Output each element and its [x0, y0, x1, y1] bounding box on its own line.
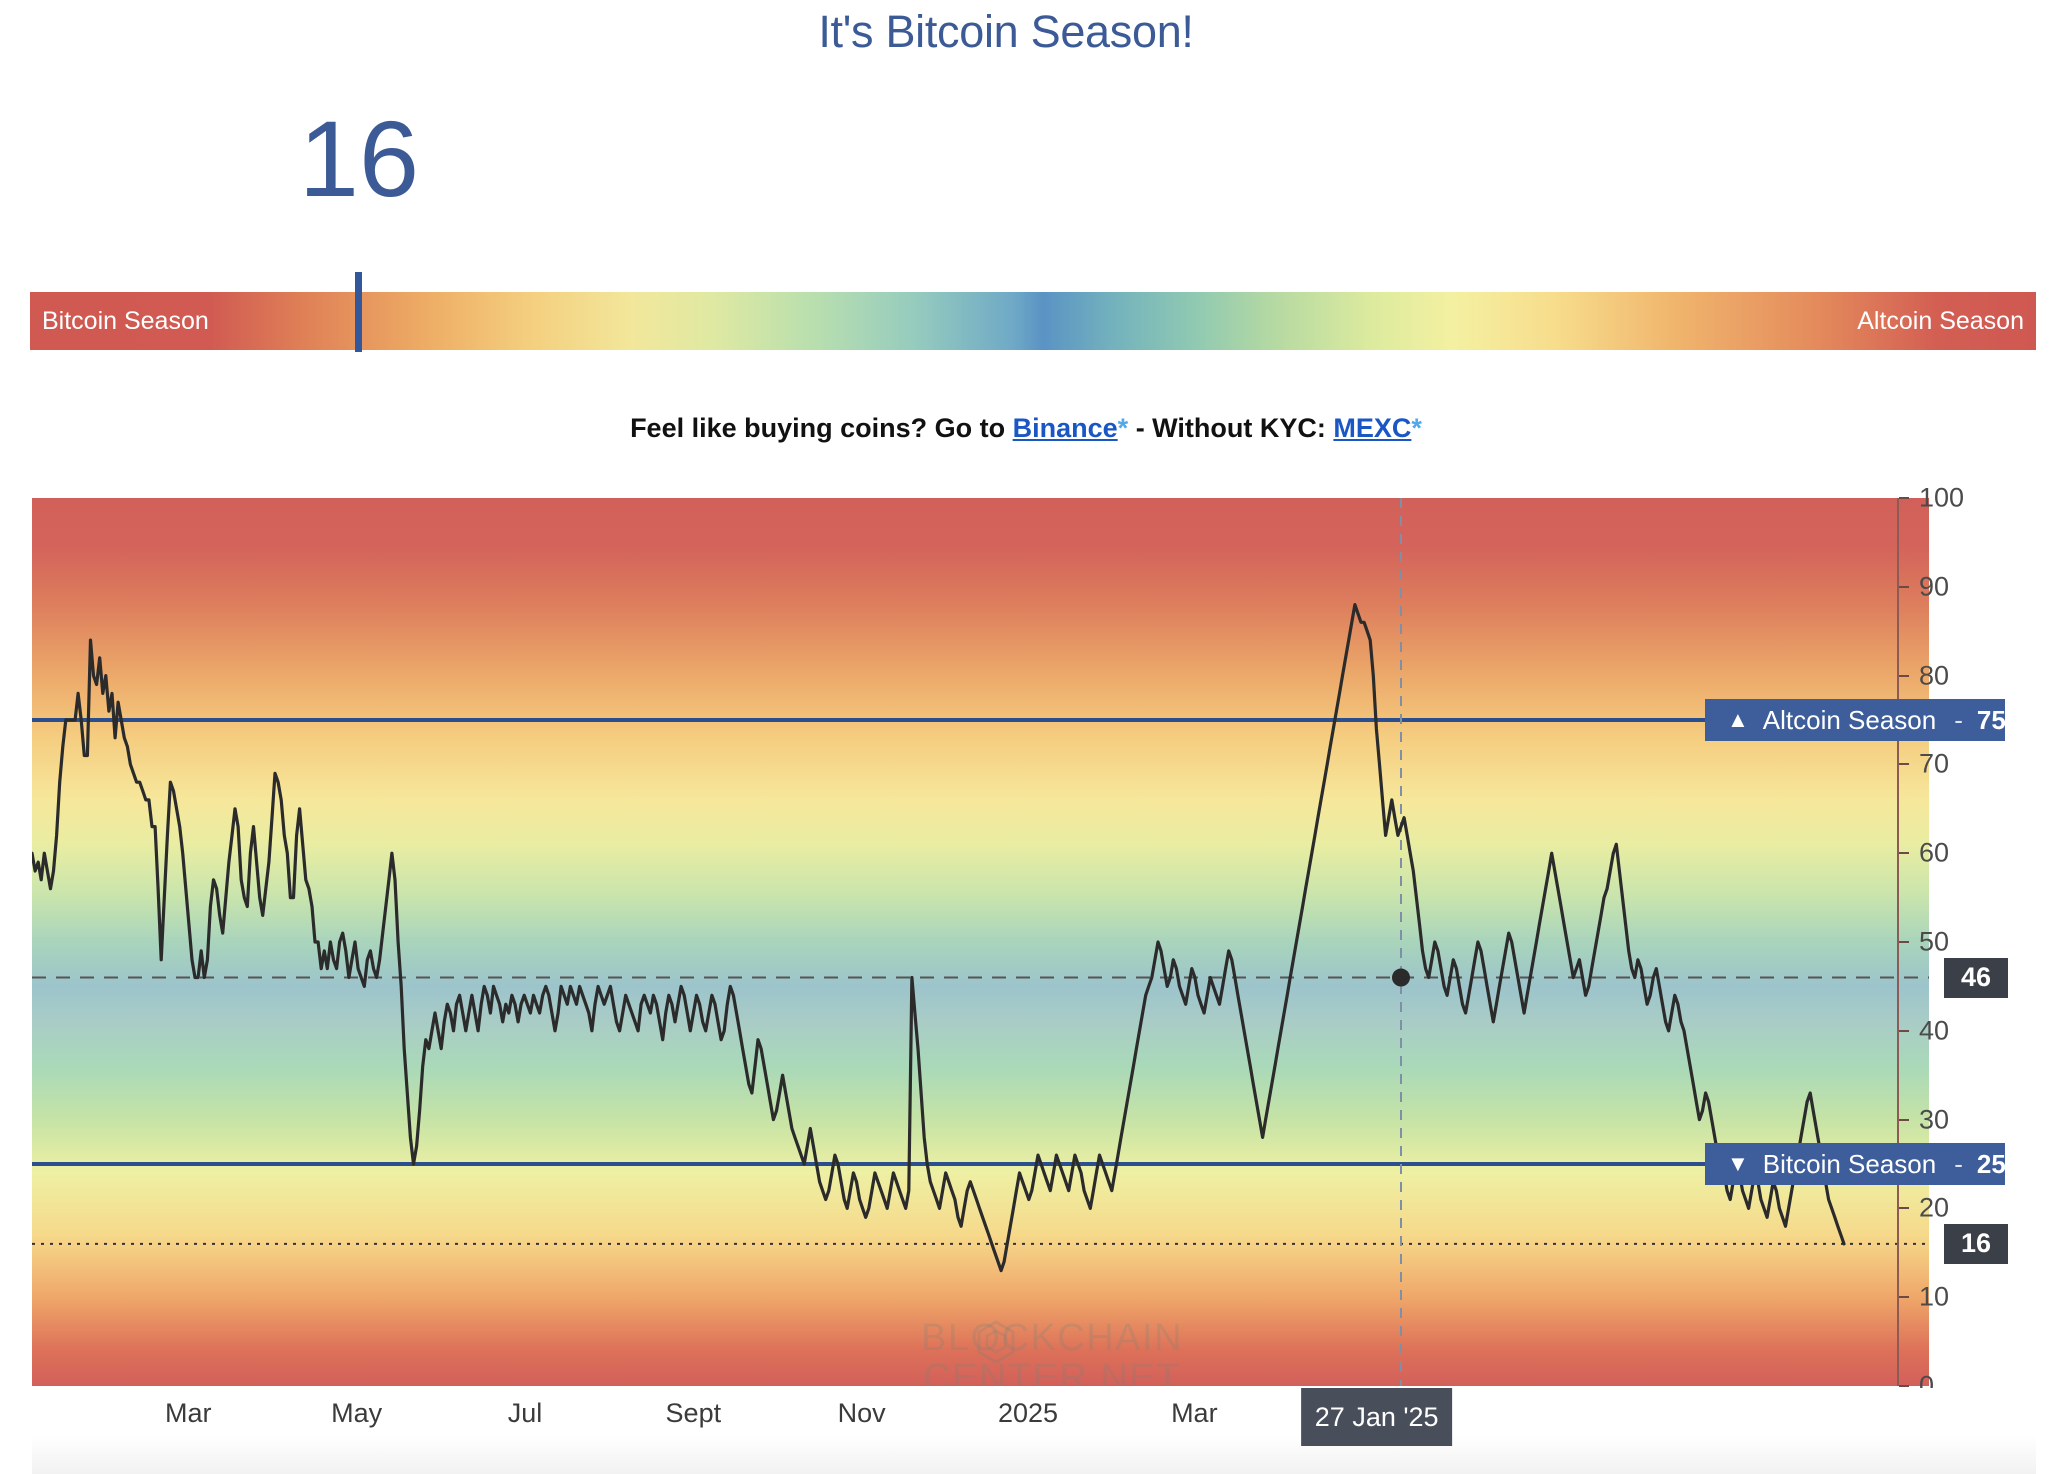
- y-tick-40: [1899, 1030, 1909, 1032]
- y-tick-0: [1899, 1385, 1909, 1387]
- blockchain-hex-icon: [976, 1320, 1016, 1364]
- y-axis-label-20: 20: [1919, 1195, 1949, 1222]
- page-title: It's Bitcoin Season!: [0, 4, 2052, 60]
- y-tick-60: [1899, 852, 1909, 854]
- x-axis-label-may: May: [331, 1398, 382, 1429]
- y-tick-90: [1899, 586, 1909, 588]
- page-title-text: It's Bitcoin Season!: [818, 4, 1193, 60]
- y-tick-30: [1899, 1119, 1909, 1121]
- y-tick-80: [1899, 675, 1909, 677]
- y-axis-label-30: 30: [1919, 1106, 1949, 1133]
- chart-plot-area[interactable]: BLOCKCHAIN CENTER.NET: [32, 498, 1929, 1386]
- season-bar-right-label: Altcoin Season: [1857, 292, 2024, 350]
- value-badge-hover: 46: [1944, 958, 2008, 998]
- y-axis-label-50: 50: [1919, 929, 1949, 956]
- binance-star: *: [1118, 413, 1129, 443]
- y-axis-label-90: 90: [1919, 573, 1949, 600]
- value-badge-current: 16: [1944, 1224, 2008, 1264]
- season-marker: [355, 272, 362, 352]
- promo-line: Feel like buying coins? Go to Binance* -…: [0, 410, 2052, 446]
- threshold-label: Bitcoin Season: [1763, 1149, 1936, 1180]
- x-axis-label-2025: 2025: [998, 1398, 1058, 1429]
- y-tick-20: [1899, 1207, 1909, 1209]
- x-axis-label-jul: Jul: [508, 1398, 543, 1429]
- mexc-link[interactable]: MEXC: [1333, 413, 1411, 443]
- y-tick-100: [1899, 497, 1909, 499]
- season-gradient-bar: Bitcoin Season Altcoin Season: [30, 292, 2036, 350]
- x-axis-label-nov: Nov: [838, 1398, 886, 1429]
- y-axis-label-10: 10: [1919, 1284, 1949, 1311]
- chart-frame: BLOCKCHAIN CENTER.NET: [32, 498, 2036, 1386]
- threshold-badge-altcoin: ▲Altcoin Season-75: [1705, 699, 2005, 741]
- threshold-badge-bitcoin: ▼Bitcoin Season-25: [1705, 1143, 2005, 1185]
- y-axis-label-80: 80: [1919, 662, 1949, 689]
- y-tick-10: [1899, 1296, 1909, 1298]
- y-tick-70: [1899, 763, 1909, 765]
- promo-text-middle: - Without KYC:: [1128, 413, 1333, 443]
- y-tick-50: [1899, 941, 1909, 943]
- threshold-dash: -: [1954, 705, 1963, 736]
- season-bar-left-label: Bitcoin Season: [42, 292, 209, 350]
- chart-svg: [32, 498, 1929, 1386]
- promo-text-before: Feel like buying coins? Go to: [630, 413, 1013, 443]
- threshold-value: 25: [1977, 1149, 2006, 1180]
- triangle-down-icon: ▼: [1727, 1153, 1749, 1175]
- x-axis-label-mar: Mar: [165, 1398, 212, 1429]
- y-axis-label-100: 100: [1919, 485, 1964, 512]
- y-axis-label-60: 60: [1919, 840, 1949, 867]
- threshold-dash: -: [1954, 1149, 1963, 1180]
- x-axis-label-mar: Mar: [1171, 1398, 1218, 1429]
- index-value: 16: [0, 104, 718, 214]
- crosshair-point: [1392, 969, 1410, 987]
- x-axis-label-sept: Sept: [666, 1398, 722, 1429]
- triangle-up-icon: ▲: [1727, 709, 1749, 731]
- x-axis-tooltip: 27 Jan '25: [1301, 1388, 1453, 1446]
- x-axis: MarMayJulSeptNov2025MarMay27 Jan '25: [32, 1388, 2036, 1474]
- series-line: [32, 605, 1844, 1271]
- y-axis-label-40: 40: [1919, 1017, 1949, 1044]
- threshold-label: Altcoin Season: [1763, 705, 1936, 736]
- y-axis-label-70: 70: [1919, 751, 1949, 778]
- binance-link[interactable]: Binance: [1013, 413, 1118, 443]
- mexc-star: *: [1411, 413, 1422, 443]
- threshold-value: 75: [1977, 705, 2006, 736]
